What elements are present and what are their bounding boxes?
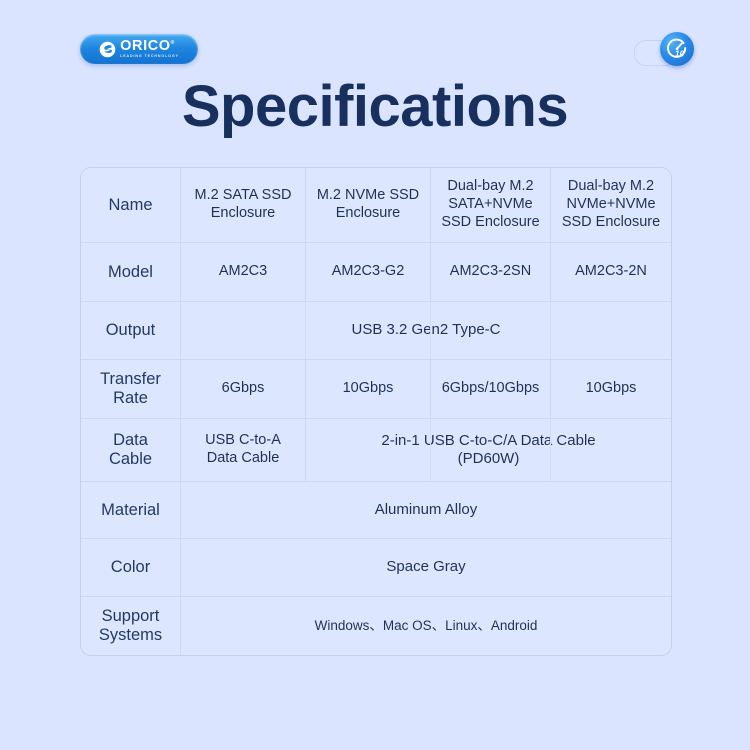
cell-color-merged: Space Gray <box>181 539 671 596</box>
cell-name-col2: M.2 NVMe SSDEnclosure <box>306 168 431 242</box>
table-row-color: Color Space Gray <box>81 539 671 597</box>
table-row-data-cable: Data Cable USB C-to-AData Cable 2-in-1 U… <box>81 419 671 482</box>
row-label-transfer-rate: Transfer Rate <box>81 360 181 418</box>
orico-logo-text: ORICO® LEADING TECHNOLOGY <box>120 39 179 59</box>
specifications-table: Name M.2 SATA SSDEnclosure M.2 NVMe SSDE… <box>80 167 672 656</box>
cell-rate-col2: 10Gbps <box>306 360 431 418</box>
table-row-output: Output USB 3.2 Gen2 Type-C <box>81 302 671 360</box>
table-row-material: Material Aluminum Alloy <box>81 482 671 539</box>
row-label-data-cable: Data Cable <box>81 419 181 481</box>
cell-material-text: Aluminum Alloy <box>375 501 478 519</box>
row-label-data-cable-line1: Data <box>113 431 148 449</box>
row-label-name: Name <box>81 168 181 242</box>
orico-wordmark: ORICO® <box>120 39 175 54</box>
cell-output-merged: USB 3.2 Gen2 Type-C <box>181 302 671 359</box>
cell-material-merged: Aluminum Alloy <box>181 482 671 538</box>
speed-gauge-icon: 10 <box>664 36 690 62</box>
orico-swirl-icon <box>99 41 116 58</box>
row-label-transfer-rate-line1: Transfer <box>100 370 161 388</box>
cell-rate-col1: 6Gbps <box>181 360 306 418</box>
row-label-model: Model <box>81 243 181 301</box>
cell-rate-col3: 6Gbps/10Gbps <box>431 360 551 418</box>
orico-tagline: LEADING TECHNOLOGY <box>120 55 179 59</box>
table-row-model: Model AM2C3 AM2C3-G2 AM2C3-2SN AM2C3-2N <box>81 243 671 302</box>
cell-color-text: Space Gray <box>386 558 465 576</box>
row-label-color: Color <box>81 539 181 596</box>
cell-model-col4: AM2C3-2N <box>551 243 671 301</box>
row-label-output: Output <box>81 302 181 359</box>
cell-support-systems-text: Windows、Mac OS、Linux、Android <box>315 618 538 634</box>
row-label-data-cable-line2: Cable <box>109 450 152 468</box>
table-row-support-systems: Support Systems Windows、Mac OS、Linux、And… <box>81 597 671 655</box>
cell-model-col2: AM2C3-G2 <box>306 243 431 301</box>
cell-name-col4: Dual-bay M.2NVMe+NVMeSSD Enclosure <box>551 168 671 242</box>
cell-output-text: USB 3.2 Gen2 Type-C <box>352 321 501 339</box>
registered-mark: ® <box>171 40 175 46</box>
cell-name-col3: Dual-bay M.2SATA+NVMeSSD Enclosure <box>431 168 551 242</box>
cell-cable-merged: 2-in-1 USB C-to-C/A Data Cable(PD60W) <box>306 419 671 481</box>
table-row-name: Name M.2 SATA SSDEnclosure M.2 NVMe SSDE… <box>81 168 671 243</box>
cell-model-col1: AM2C3 <box>181 243 306 301</box>
cell-cable-text: 2-in-1 USB C-to-C/A Data Cable(PD60W) <box>381 432 595 469</box>
badge-value-text: 10 <box>675 48 685 58</box>
cell-name-col1: M.2 SATA SSDEnclosure <box>181 168 306 242</box>
page-title: Specifications <box>0 78 750 136</box>
speed-badge: 10 <box>634 30 694 74</box>
cell-support-systems-merged: Windows、Mac OS、Linux、Android <box>181 597 671 655</box>
row-label-material: Material <box>81 482 181 538</box>
cell-rate-col4: 10Gbps <box>551 360 671 418</box>
row-label-support-systems-line1: Support <box>102 607 160 625</box>
badge-circle: 10 <box>660 32 694 66</box>
row-label-transfer-rate-line2: Rate <box>113 389 148 407</box>
row-label-support-systems: Support Systems <box>81 597 181 655</box>
cell-cable-col1: USB C-to-AData Cable <box>181 419 306 481</box>
orico-logo: ORICO® LEADING TECHNOLOGY <box>80 34 198 64</box>
table-row-transfer-rate: Transfer Rate 6Gbps 10Gbps 6Gbps/10Gbps … <box>81 360 671 419</box>
cell-model-col3: AM2C3-2SN <box>431 243 551 301</box>
row-label-support-systems-line2: Systems <box>99 626 162 644</box>
